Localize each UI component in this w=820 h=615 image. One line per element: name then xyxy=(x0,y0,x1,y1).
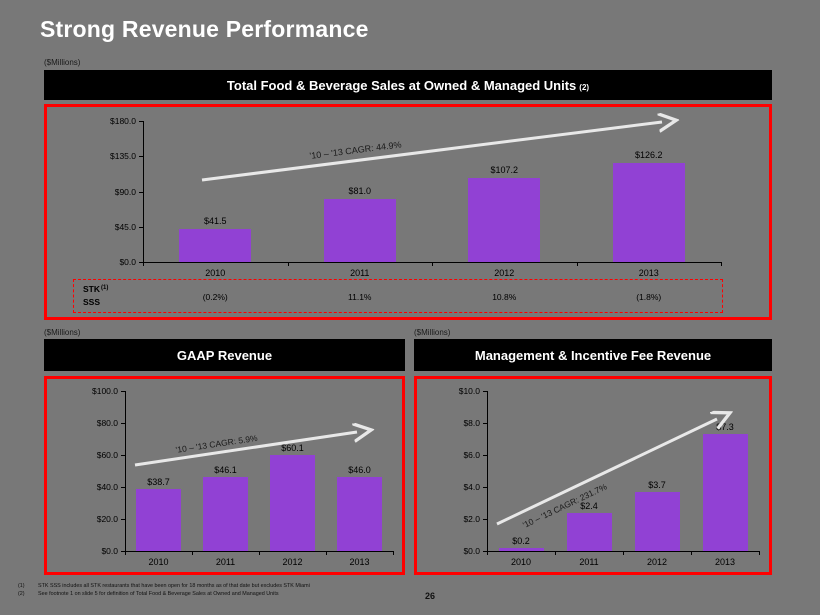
stk-sss-label-superscript: (1) xyxy=(101,285,108,291)
main-chart-frame: $0.0$45.0$90.0$135.0$180.0$41.52010$81.0… xyxy=(44,104,772,320)
stk-sss-label: STK(1)SSS xyxy=(83,284,108,308)
stk-sss-value: 10.8% xyxy=(492,292,516,302)
main-chart-banner-superscript: (2) xyxy=(579,83,589,92)
gaap-chart-plot: $0.0$20.0$40.0$60.0$80.0$100.0$38.72010$… xyxy=(47,379,402,572)
stk-sss-label-line1: STK(1) xyxy=(83,284,108,297)
stk-sss-row xyxy=(73,279,723,313)
gaap-units-label: ($Millions) xyxy=(44,328,80,337)
footnote-number: (1) xyxy=(18,583,38,591)
footnotes: (1) STK SSS includes all STK restaurants… xyxy=(18,583,310,598)
gaap-chart-banner-title: GAAP Revenue xyxy=(177,348,272,363)
page-title: Strong Revenue Performance xyxy=(40,16,369,43)
stk-sss-value: 11.1% xyxy=(348,292,371,302)
main-units-label: ($Millions) xyxy=(44,58,80,67)
footnote-text: STK SSS includes all STK restaurants tha… xyxy=(38,583,310,591)
footnote-row: (1) STK SSS includes all STK restaurants… xyxy=(18,583,310,591)
footnote-number: (2) xyxy=(18,591,38,599)
footnote-text: See footnote 1 on slide 5 for definition… xyxy=(38,591,279,599)
main-chart-plot: $0.0$45.0$90.0$135.0$180.0$41.52010$81.0… xyxy=(47,107,769,317)
main-chart-banner: Total Food & Beverage Sales at Owned & M… xyxy=(44,70,772,100)
stk-sss-value: (0.2%) xyxy=(203,292,228,302)
footnote-row: (2) See footnote 1 on slide 5 for defini… xyxy=(18,591,310,599)
cagr-arrow-icon xyxy=(417,379,769,572)
stk-sss-label-line2: SSS xyxy=(83,297,108,308)
main-chart-banner-title: Total Food & Beverage Sales at Owned & M… xyxy=(227,78,576,93)
fee-chart-banner-title: Management & Incentive Fee Revenue xyxy=(475,348,711,363)
gaap-chart-frame: $0.0$20.0$40.0$60.0$80.0$100.0$38.72010$… xyxy=(44,376,405,575)
stk-sss-value: (1.8%) xyxy=(636,292,661,302)
fee-units-label: ($Millions) xyxy=(414,328,450,337)
slide-canvas: Strong Revenue Performance ($Millions) T… xyxy=(0,0,820,615)
gaap-chart-banner: GAAP Revenue xyxy=(44,339,405,371)
cagr-arrow-icon xyxy=(47,379,402,572)
page-number: 26 xyxy=(425,591,435,601)
fee-chart-frame: $0.0$2.0$4.0$6.0$8.0$10.0$0.22010$2.4201… xyxy=(414,376,772,575)
fee-chart-plot: $0.0$2.0$4.0$6.0$8.0$10.0$0.22010$2.4201… xyxy=(417,379,769,572)
fee-chart-banner: Management & Incentive Fee Revenue xyxy=(414,339,772,371)
